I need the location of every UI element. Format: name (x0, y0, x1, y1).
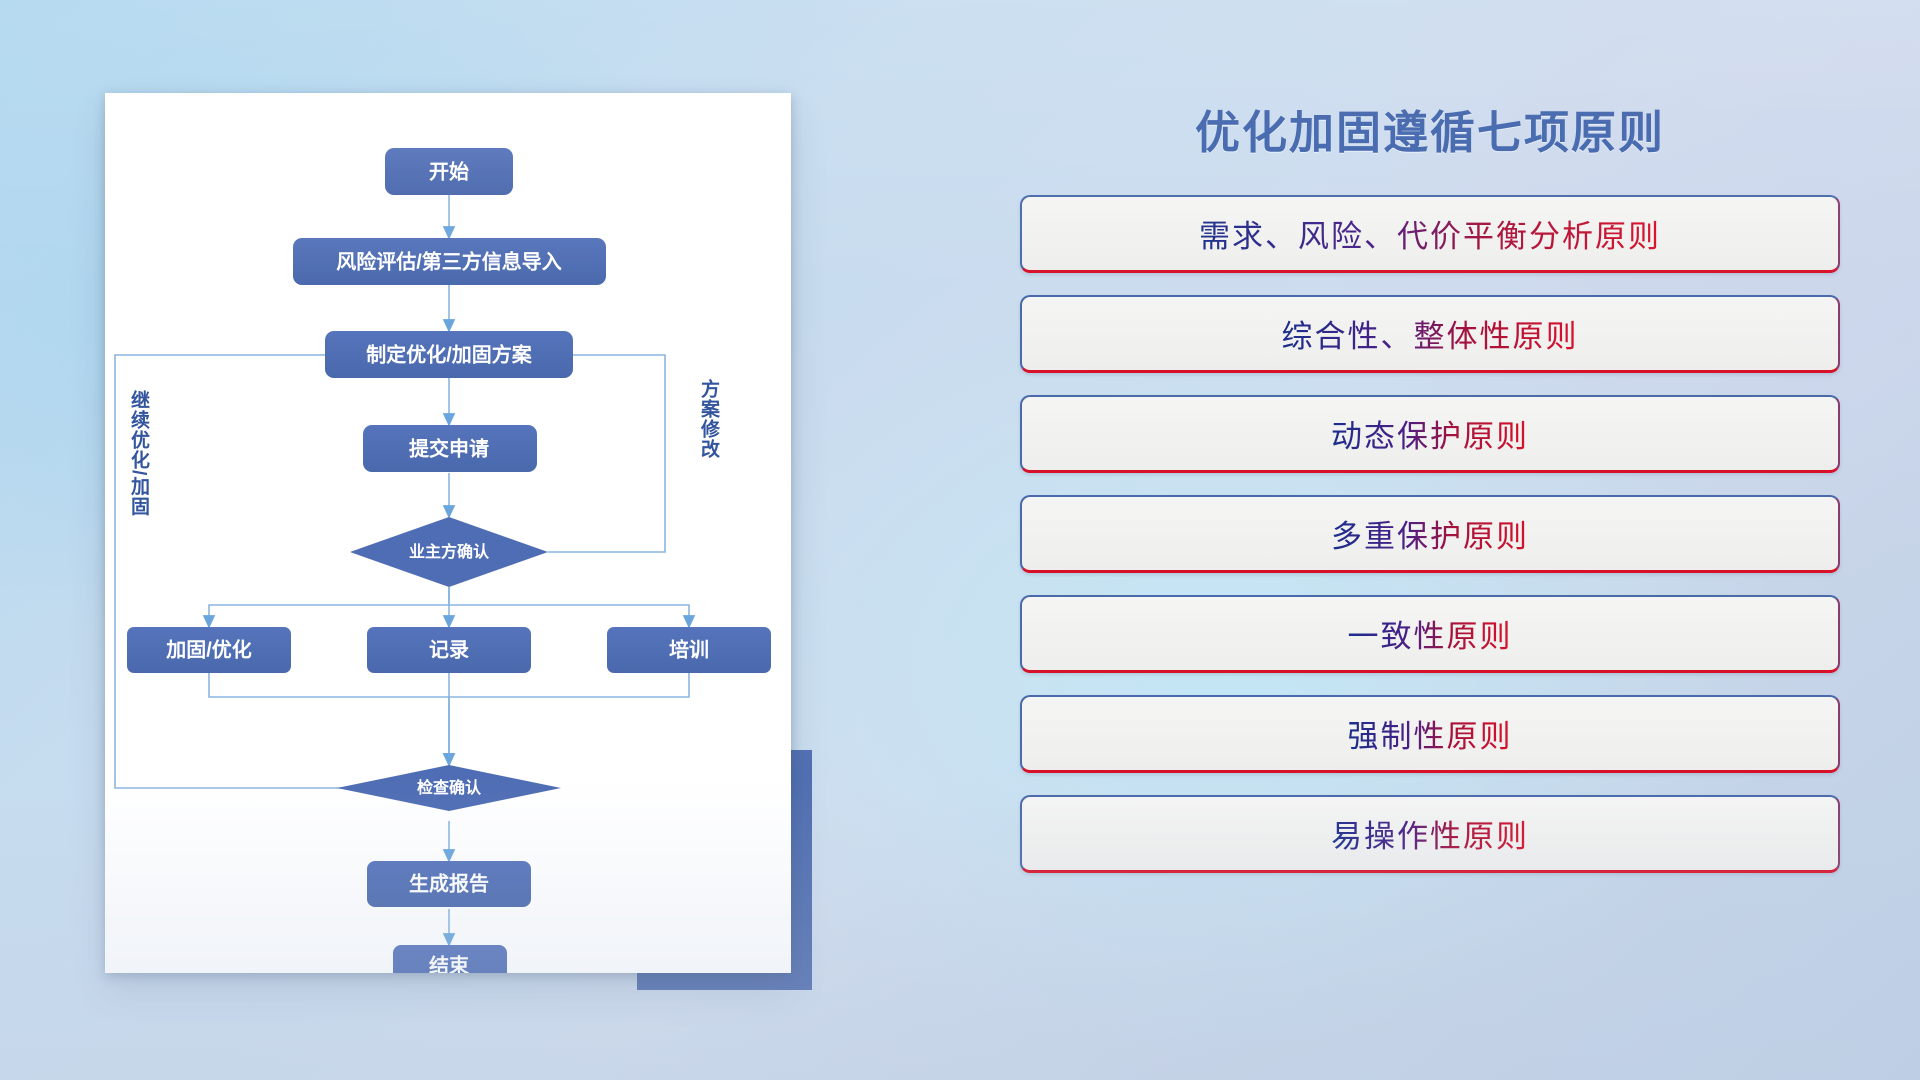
flow-node-report-label: 生成报告 (409, 871, 489, 895)
flow-node-plan[interactable]: 制定优化/加固方案 (325, 331, 573, 378)
flow-node-record-label: 记录 (429, 638, 469, 661)
principle-label-2: 综合性、整体性原则 (1282, 311, 1579, 356)
flow-node-reinforce-label: 加固/优化 (165, 637, 252, 661)
flowchart-graphic: 开始 风险评估/第三方信息导入 制定优化/加固方案 提交申请 业主方确认 (105, 93, 791, 973)
panel-title: 优化加固遵循七项原则 (1020, 96, 1840, 161)
principle-label-5: 一致性原则 (1348, 611, 1513, 656)
flow-node-reinforce[interactable]: 加固/优化 (127, 627, 291, 673)
principle-card-2[interactable]: 综合性、整体性原则 (1020, 295, 1840, 373)
flow-node-assess[interactable]: 风险评估/第三方信息导入 (293, 238, 606, 285)
flow-node-start-label: 开始 (429, 159, 469, 183)
flow-node-start[interactable]: 开始 (385, 148, 513, 195)
flow-node-check-label: 检查确认 (417, 778, 482, 797)
principle-card-7[interactable]: 易操作性原则 (1020, 795, 1840, 873)
flow-node-submit[interactable]: 提交申请 (363, 425, 537, 472)
flow-edge-label-right-loop: 方案修改 (699, 379, 718, 459)
flow-node-check[interactable]: 检查确认 (337, 765, 561, 811)
principle-label-1: 需求、风险、代价平衡分析原则 (1199, 211, 1661, 256)
flow-node-end-label: 结束 (429, 953, 470, 973)
flow-node-train[interactable]: 培训 (607, 627, 771, 673)
slide-canvas: 开始 风险评估/第三方信息导入 制定优化/加固方案 提交申请 业主方确认 (0, 0, 1920, 1080)
flow-node-plan-label: 制定优化/加固方案 (366, 342, 533, 366)
flow-node-assess-label: 风险评估/第三方信息导入 (336, 249, 562, 273)
principle-label-4: 多重保护原则 (1331, 511, 1529, 556)
flow-node-train-label: 培训 (669, 637, 709, 661)
flow-node-end[interactable]: 结束 (393, 945, 507, 973)
principle-label-3: 动态保护原则 (1331, 411, 1529, 456)
flow-node-owner-confirm[interactable]: 业主方确认 (350, 517, 548, 587)
principle-card-4[interactable]: 多重保护原则 (1020, 495, 1840, 573)
principle-label-7: 易操作性原则 (1331, 811, 1529, 856)
flow-node-record[interactable]: 记录 (367, 627, 531, 673)
flow-node-report[interactable]: 生成报告 (367, 861, 531, 907)
principles-list: 需求、风险、代价平衡分析原则 综合性、整体性原则 动态保护原则 多重保护原则 一… (1020, 195, 1840, 873)
principle-label-6: 强制性原则 (1348, 711, 1513, 756)
principle-card-6[interactable]: 强制性原则 (1020, 695, 1840, 773)
flow-edge-label-left-loop: 继续优化/加固 (129, 390, 148, 516)
principles-panel: 优化加固遵循七项原则 需求、风险、代价平衡分析原则 综合性、整体性原则 动态保护… (1020, 96, 1840, 1006)
principle-card-3[interactable]: 动态保护原则 (1020, 395, 1840, 473)
principle-card-5[interactable]: 一致性原则 (1020, 595, 1840, 673)
flow-node-submit-label: 提交申请 (409, 436, 489, 460)
principle-card-1[interactable]: 需求、风险、代价平衡分析原则 (1020, 195, 1840, 273)
flowchart-card: 开始 风险评估/第三方信息导入 制定优化/加固方案 提交申请 业主方确认 (105, 93, 791, 973)
flow-node-owner-confirm-label: 业主方确认 (409, 542, 490, 561)
